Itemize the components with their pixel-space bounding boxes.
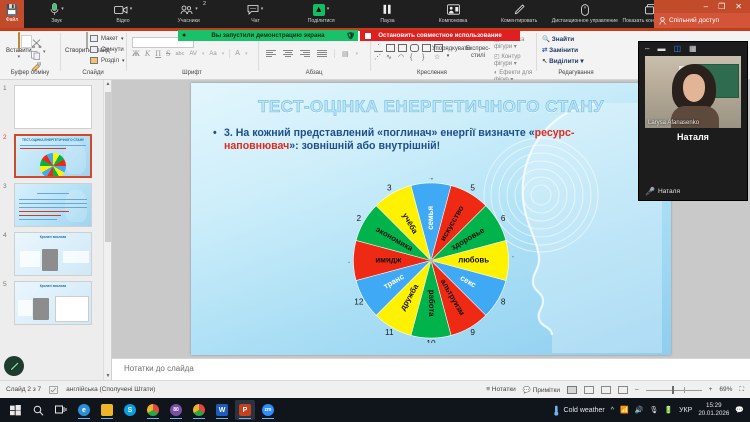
energy-wheel-chart[interactable]: имиджэкономикаучёбасемьяискусствоздоровь… [349, 178, 514, 343]
slide-counter: Слайд 2 з 7 [6, 386, 41, 393]
microphone-muted-icon: 🎤 [645, 187, 655, 196]
participants-icon [180, 5, 193, 15]
scroll-down-icon[interactable]: ▼ [105, 373, 111, 379]
replace-button[interactable]: ⇄ Замінити [542, 46, 584, 54]
zoom-layout-button[interactable]: Компоновка [422, 2, 484, 24]
chevron-down-icon[interactable]: ▾ [195, 7, 198, 12]
pie-slice-number: 5 [470, 184, 475, 193]
microphone-icon[interactable]: 🎙 [650, 406, 659, 414]
head-silhouette [64, 142, 86, 174]
chevron-down-icon[interactable]: ▾ [327, 7, 330, 12]
new-slide-icon [86, 32, 88, 49]
taskbar-app-powerpoint[interactable]: P [235, 400, 255, 420]
chevron-down-icon[interactable]: ▾ [261, 7, 264, 12]
ribbon-group-editing: 🔍 Знайти ⇄ Замінити ↖ Виділити ▾ Редагув… [538, 32, 614, 76]
ribbon-group-editing-label: Редагування [538, 70, 614, 76]
close-button[interactable]: ✕ [735, 2, 742, 11]
file-explorer-icon [101, 404, 113, 416]
gallery-view-icon[interactable]: ▦ [689, 45, 697, 53]
weather-label: Cold weather [564, 407, 605, 414]
notes-pane[interactable]: Нотатки до слайда [112, 358, 750, 380]
pie-chart: имиджэкономикаучёбасемьяискусствоздоровь… [349, 178, 514, 343]
slide-bullet-text[interactable]: • 3. На кожний представлений «поглинач» … [213, 127, 623, 153]
clock-time: 15:29 [698, 402, 729, 410]
zoom-meeting-toolbar: 💾 Файл ▾ Звук ▾ Відео 2 [0, 0, 750, 28]
share-indicator-icon: ● [182, 32, 186, 39]
pie-slice-number: 7 [512, 256, 513, 265]
slide-thumbnail[interactable]: 1 [14, 85, 101, 129]
curve-shape-icon[interactable]: ∿ [386, 54, 395, 62]
shape-outline-button[interactable]: ◰ Контур фігури ▾ [494, 53, 534, 67]
zoom-share-label: Поділитися [308, 18, 335, 24]
maximize-button[interactable]: ▬ [657, 45, 665, 53]
stop-share-button[interactable]: Остановить совместное использование [360, 30, 520, 41]
network-icon[interactable]: 📶 [620, 406, 629, 414]
pie-slice-number: 2 [357, 214, 362, 223]
reset-button[interactable]: Скинути [90, 46, 124, 53]
align-center-icon[interactable] [283, 50, 293, 58]
annotation-pen-badge[interactable] [4, 356, 24, 376]
taskbar-app-file-explorer[interactable] [97, 400, 117, 420]
pie-slice-label: имидж [375, 256, 401, 265]
divider [536, 33, 537, 71]
triangle-shape-icon[interactable] [374, 44, 383, 52]
zoom-file-menu[interactable]: 💾 Файл [0, 0, 24, 28]
layout-label: Макет [101, 36, 118, 42]
chevron-down-icon[interactable]: ▾ [130, 7, 133, 12]
layout-icon [90, 35, 98, 42]
pie-slice-number: 3 [387, 184, 392, 193]
zoom-annotate-label: Коментировать [501, 18, 537, 24]
scroll-up-icon[interactable]: ▲ [105, 81, 111, 87]
reset-label: Скинути [101, 47, 124, 53]
taskbar-app-zoom[interactable]: zm [258, 400, 278, 420]
ribbon-group-clipboard: Вставити ▾ ▾ Буфер обміну [2, 32, 58, 76]
zoom-remote-control-button[interactable]: Дистанционное управление [554, 2, 616, 24]
thermometer-icon [552, 405, 561, 416]
windows-start-icon[interactable] [5, 400, 25, 420]
clock[interactable]: 15:29 20.01.2026 [698, 402, 729, 418]
head-silhouette [65, 190, 87, 222]
chevron-down-icon[interactable]: ▾ [18, 54, 21, 60]
reset-icon [90, 46, 98, 53]
pencil-icon [9, 361, 20, 372]
pie-slice-number: 6 [501, 214, 506, 223]
camera-icon [114, 5, 128, 15]
zoom-pause-label: Пауза [380, 18, 394, 24]
person-face [683, 74, 705, 102]
powerpoint-icon: P [239, 404, 251, 416]
minimize-button[interactable]: – [645, 45, 649, 53]
shared-access-indicator: Спільний доступ [654, 13, 750, 28]
brace-shape-icon[interactable]: { [410, 54, 419, 62]
clipboard-icon [18, 32, 20, 49]
spellcheck-icon[interactable] [49, 386, 58, 394]
quick-styles-button[interactable]: Експрес-стилі [465, 46, 491, 60]
slide-thumbnail[interactable]: 2 ТЕСТ-ОЦІНКА ЕНЕРГЕТИЧНОГО СТАНУ [14, 134, 101, 178]
pie-slice-number: 9 [470, 328, 475, 337]
edge-icon: e [78, 404, 90, 416]
section-icon [90, 57, 98, 64]
mini-title: Крилаті вислови [15, 235, 91, 239]
zoom-out-button[interactable]: – [635, 386, 639, 393]
taskbar-app-edge[interactable]: e [74, 400, 94, 420]
replace-label: Замінити [549, 47, 578, 54]
italic-button[interactable]: К [145, 49, 150, 58]
quick-styles-label: Експрес-стилі [466, 46, 491, 59]
ribbon-group-font-label: Шрифт [128, 70, 256, 76]
mini-title: Крилаті вислови [15, 284, 91, 288]
layout-button[interactable]: Макет▾ [90, 35, 124, 42]
person-icon [659, 17, 666, 25]
notifications-icon[interactable]: 💬 [735, 406, 744, 414]
taskbar-app-chrome-1[interactable] [143, 400, 163, 420]
align-left-icon[interactable] [266, 50, 276, 58]
zoom-audio-button[interactable]: ▾ Звук [26, 2, 88, 24]
zoom-participants-button[interactable]: 2 ▾ Учасники [158, 2, 220, 24]
volume-icon[interactable]: 🔊 [635, 406, 644, 414]
slide-sorter-view-button[interactable] [584, 386, 594, 394]
arc-shape-icon[interactable]: ◠ [398, 54, 407, 62]
mini-wheel [40, 153, 66, 178]
find-label: Знайти [552, 36, 574, 43]
underline-button[interactable]: П [155, 49, 161, 58]
save-icon: 💾 [6, 6, 18, 16]
zoom-video-panel-toolbar: – ▬ ◫ ▦ [639, 42, 747, 56]
chevron-down-icon[interactable]: ▾ [43, 49, 46, 55]
bullet-text-part1: 3. На кожний представлений «поглинач» ен… [224, 127, 535, 139]
pie-slice-number: 1 [349, 256, 351, 265]
slide-number: 4 [3, 232, 7, 239]
align-right-icon[interactable] [300, 50, 310, 58]
comments-toggle-label: Примітки [533, 387, 560, 394]
pie-slice-number: 12 [354, 297, 364, 306]
stop-share-label: Остановить совместное использование [378, 32, 502, 39]
share-screen-icon: ▲ [313, 4, 325, 16]
corner-shape-icon[interactable] [386, 44, 395, 52]
brace-close-shape-icon[interactable]: } [422, 54, 431, 62]
bold-button[interactable]: Ж [132, 49, 140, 58]
fit-slide-button[interactable]: ⛶ [739, 386, 744, 394]
justify-icon[interactable] [317, 50, 327, 58]
speaker-view-icon[interactable]: ◫ [673, 45, 681, 53]
bullet-marker: • [213, 127, 217, 140]
zoom-video-button[interactable]: ▾ Відео [92, 2, 154, 24]
zoom-icon: zm [262, 404, 274, 416]
active-speaker-name: Наталя [639, 132, 747, 142]
ribbon-group-paragraph-label: Абзац [260, 70, 368, 76]
screen-share-banner-label: Вы запустили демонстрацию экрана [211, 32, 324, 39]
strikethrough-button[interactable]: S [166, 49, 170, 58]
zoom-layout-label: Компоновка [439, 18, 468, 24]
divider [126, 33, 127, 71]
slide-thumbnail[interactable]: 4 Крилаті вислови [14, 232, 101, 276]
shield-icon[interactable]: 🛡 [346, 32, 355, 40]
select-label: Виділити [549, 58, 578, 65]
restore-button[interactable]: ❐ [718, 2, 725, 11]
speaker-footer-name: Наталя [658, 188, 680, 195]
select-button[interactable]: ↖ Виділити ▾ [542, 57, 584, 65]
mouse-icon [581, 4, 589, 16]
notes-placeholder: Нотатки до слайда [124, 364, 194, 373]
zoom-slider[interactable] [646, 386, 702, 394]
search-icon[interactable] [28, 400, 48, 420]
arrange-button[interactable]: Упорядкувати▾ [432, 46, 464, 60]
normal-view-button[interactable] [567, 386, 577, 394]
window-controls: – ❐ ✕ [654, 0, 750, 13]
taskbar-app-chrome-2[interactable] [189, 400, 209, 420]
participant-video-tile[interactable]: Larysa Afanasenko [645, 56, 741, 128]
battery-icon[interactable]: 🔋 [664, 406, 673, 414]
ribbon-group-drawing-label: Креслення [372, 70, 492, 76]
status-bar: Слайд 2 з 7 англійська (Сполучені Штати)… [0, 380, 750, 398]
slide-number: 1 [3, 85, 7, 92]
mini-title: ТЕСТ-ОЦІНКА ЕНЕРГЕТИЧНОГО СТАНУ [16, 138, 90, 142]
skype-icon: S [124, 404, 136, 416]
show-hidden-icons-button[interactable]: ^ [611, 407, 614, 414]
ribbon-group-slides-label: Слайди [62, 70, 124, 76]
arrow-down-shape-icon[interactable] [422, 44, 431, 52]
comments-toggle-button[interactable]: 💬 Примітки [523, 386, 560, 394]
participant-name: Larysa Afanasenko [648, 120, 699, 126]
zoom-chat-label: Чат [251, 18, 260, 24]
divider [60, 33, 61, 71]
zoom-share-button[interactable]: ▲ ▾ Поділитися [290, 2, 352, 24]
chrome-icon [147, 404, 159, 416]
layout-icon [447, 4, 460, 15]
pie-slice-label: работа [427, 290, 436, 317]
slide-number: 2 [3, 134, 7, 141]
zoom-file-label: Файл [6, 17, 18, 23]
slide-thumbnail[interactable]: 5 Крилаті вислови [14, 281, 101, 325]
viber-icon: 80 [170, 404, 182, 416]
section-label: Розділ [101, 58, 119, 64]
language-indicator[interactable]: УКР [679, 407, 692, 414]
chat-bubble-icon [247, 4, 259, 15]
zoom-video-panel[interactable]: – ▬ ◫ ▦ Larysa Afanasenko Наталя 🎤 Натал… [638, 41, 748, 201]
language-indicator[interactable]: англійська (Сполучені Штати) [66, 386, 155, 393]
change-case-button[interactable]: Aa [209, 51, 216, 57]
pie-slice-number: 11 [385, 328, 394, 337]
zoom-pause-button[interactable]: Пауза [356, 2, 418, 24]
zoom-audio-label: Звук [52, 18, 63, 24]
shared-access-label: Спільний доступ [669, 17, 719, 24]
chrome-icon [193, 404, 205, 416]
zoom-in-button[interactable]: + [709, 386, 713, 393]
minimize-button[interactable]: – [704, 2, 708, 11]
ribbon-group-slides: Створити слайд Макет▾ Скинути Розділ▾ Сл… [62, 32, 124, 76]
lowercase-button[interactable]: abc [175, 51, 184, 57]
taskbar-app-word[interactable]: W [212, 400, 232, 420]
windows-taskbar: e S 80 W P zm Cold weather ^ 📶 🔊 🎙 🔋 УКР… [0, 398, 750, 422]
taskbar-app-skype[interactable]: S [120, 400, 140, 420]
scrollbar-thumb[interactable] [105, 92, 111, 242]
slide-number: 5 [3, 281, 7, 288]
screen-root: 💾 Файл ▾ Звук ▾ Відео 2 [0, 0, 750, 422]
screen-share-banner: ● Вы запустили демонстрацию экрана 🛡 [178, 30, 358, 41]
slideshow-view-button[interactable] [618, 386, 628, 394]
pie-slice-number: 8 [501, 297, 506, 306]
bracket-shape-icon[interactable] [398, 44, 407, 52]
zoom-window-controls-area: – ❐ ✕ Спільний доступ [654, 0, 750, 28]
pie-slice-label: любовь [458, 256, 489, 265]
section-button[interactable]: Розділ▾ [90, 57, 124, 64]
pie-slice-number: 10 [426, 339, 436, 343]
zoom-chat-button[interactable]: ▾ Чат [224, 2, 286, 24]
notes-toggle-label: Нотатки [492, 386, 516, 393]
current-slide[interactable]: ТЕСТ-ОЦІНКА ЕНЕРГЕТИЧНОГО СТАНУ • 3. На … [191, 83, 671, 355]
slide-title[interactable]: ТЕСТ-ОЦІНКА ЕНЕРГЕТИЧНОГО СТАНУ [191, 97, 671, 117]
pencil-icon [514, 4, 525, 16]
taskbar-app-viber[interactable]: 80 [166, 400, 186, 420]
ribbon-group-clipboard-label: Буфер обміну [2, 70, 58, 76]
zoom-video-label: Відео [116, 18, 129, 24]
speaker-footer: 🎤 Наталя [645, 187, 680, 196]
pause-icon [382, 4, 392, 15]
pie-slice-label: семья [426, 206, 435, 230]
stop-square-icon [365, 33, 371, 39]
slide-thumbnail-panel[interactable]: 1 2 ТЕСТ-ОЦІНКА ЕНЕРГЕТИЧНОГО СТАНУ [0, 80, 112, 380]
zoom-remote-control-label: Дистанционное управление [552, 18, 618, 24]
paste-button[interactable]: Вставити ▾ [6, 34, 32, 60]
zoom-level-label: 69% [719, 386, 732, 393]
columns-icon[interactable]: ▤ [342, 50, 349, 58]
participants-count-badge: 2 [203, 1, 206, 7]
zoom-annotate-button[interactable]: Коментировать [488, 2, 550, 24]
bullet-text-part2: »: зовнішній або внутрішній! [289, 140, 440, 152]
line-shape-icon[interactable]: ⋰ [374, 54, 383, 62]
thumbnail-scrollbar[interactable]: ▲ ▼ [103, 80, 111, 380]
word-icon: W [216, 404, 228, 416]
shape-outline-label: Контур фігури [494, 54, 521, 67]
microphone-icon [50, 3, 59, 16]
slide-thumbnail[interactable]: 3 [14, 183, 101, 227]
clock-date: 20.01.2026 [698, 410, 729, 418]
font-color-button[interactable]: A [235, 50, 240, 57]
chevron-down-icon[interactable]: ▾ [61, 7, 64, 12]
rounded-shape-icon[interactable] [410, 44, 419, 52]
weather-widget[interactable]: Cold weather [552, 405, 605, 416]
slide-number: 3 [3, 183, 7, 190]
spacing-button[interactable]: AV [189, 51, 197, 57]
zoom-toolbar-items: ▾ Звук ▾ Відео 2 ▾ Учасники [24, 0, 750, 24]
find-button[interactable]: 🔍 Знайти [542, 35, 584, 43]
pie-slice-number: 4 [429, 178, 434, 181]
zoom-participants-label: Учасники [178, 18, 200, 24]
task-view-icon[interactable] [51, 400, 71, 420]
notes-toggle-button[interactable]: ≡ Нотатки [486, 386, 516, 393]
reading-view-button[interactable] [601, 386, 611, 394]
